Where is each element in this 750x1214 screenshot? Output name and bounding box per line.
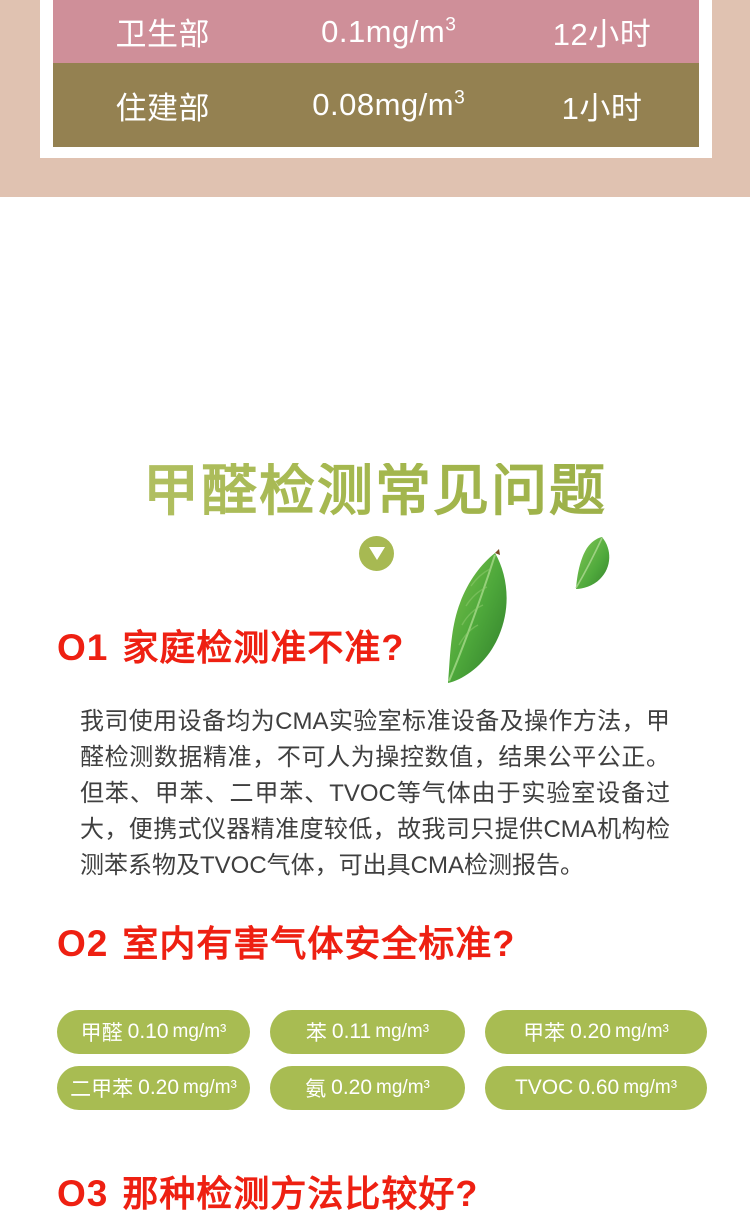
cell-duration: 1小时 — [505, 63, 699, 147]
gas-unit: mg/m³ — [183, 1077, 237, 1099]
standards-table-frame: 卫生部 0.1mg/m3 12小时 住建部 0.08mg/m3 1小时 — [40, 0, 712, 158]
cell-department: 住建部 — [53, 63, 273, 147]
faq-section: 甲醛检测常见问题 O1家庭检测准不准? 我司使用设备均为CMA实验室标准设备及操… — [0, 197, 750, 1034]
leaf-icon-small — [572, 535, 614, 590]
gas-value: 0.20 — [331, 1076, 372, 1100]
page-title: 甲醛检测常见问题 — [0, 463, 750, 519]
gas-name: 苯 — [306, 1017, 327, 1047]
gas-unit: mg/m³ — [615, 1021, 669, 1043]
gas-value: 0.20 — [570, 1020, 611, 1044]
gas-unit: mg/m³ — [376, 1077, 430, 1099]
gas-name: 甲苯 — [523, 1017, 565, 1047]
cell-duration: 12小时 — [505, 0, 699, 63]
question-answer-1: 我司使用设备均为CMA实验室标准设备及操作方法，甲醛检测数据精准，不可人为操控数… — [80, 704, 670, 884]
gas-standards-list: 甲醛 0.10 mg/m³ 苯 0.11 mg/m³ 甲苯 0.20 mg/m³… — [57, 1010, 707, 1122]
gas-standard-pill[interactable]: 甲醛 0.10 mg/m³ — [57, 1010, 250, 1054]
question-text-1: 家庭检测准不准? — [122, 627, 404, 668]
gas-value: 0.10 — [128, 1020, 169, 1044]
question-heading-3: O3那种检测方法比较好? — [57, 1175, 478, 1212]
cell-value-text: 0.08mg/m — [312, 87, 454, 122]
cell-value-superscript: 3 — [445, 14, 456, 35]
gas-value: 0.11 — [332, 1020, 371, 1044]
table-row: 卫生部 0.1mg/m3 12小时 — [53, 0, 699, 63]
gas-value: 0.60 — [578, 1076, 619, 1100]
gas-unit: mg/m³ — [173, 1021, 227, 1043]
question-number-3: O3 — [57, 1173, 108, 1214]
gas-standard-pill[interactable]: 苯 0.11 mg/m³ — [270, 1010, 465, 1054]
gas-standard-pill[interactable]: TVOC 0.60 mg/m³ — [485, 1066, 707, 1110]
leaf-icon-large — [440, 549, 520, 684]
gas-standards-row: 二甲苯 0.20 mg/m³ 氨 0.20 mg/m³ TVOC 0.60 mg… — [57, 1066, 707, 1110]
cell-value: 0.1mg/m3 — [273, 0, 505, 63]
gas-name: 二甲苯 — [70, 1073, 133, 1103]
cell-value-superscript: 3 — [454, 88, 465, 109]
gas-name: TVOC — [515, 1076, 573, 1100]
gas-standard-pill[interactable]: 二甲苯 0.20 mg/m³ — [57, 1066, 250, 1110]
gas-name: 氨 — [305, 1073, 326, 1103]
gas-value: 0.20 — [138, 1076, 179, 1100]
gas-standard-pill[interactable]: 甲苯 0.20 mg/m³ — [485, 1010, 707, 1054]
chevron-down-triangle-icon — [359, 536, 394, 571]
standards-table: 卫生部 0.1mg/m3 12小时 住建部 0.08mg/m3 1小时 — [53, 0, 699, 147]
question-heading-2: O2室内有害气体安全标准? — [57, 925, 515, 962]
standards-table-section: 卫生部 0.1mg/m3 12小时 住建部 0.08mg/m3 1小时 — [0, 0, 750, 197]
gas-standards-row: 甲醛 0.10 mg/m³ 苯 0.11 mg/m³ 甲苯 0.20 mg/m³ — [57, 1010, 707, 1054]
question-text-2: 室内有害气体安全标准? — [122, 923, 515, 964]
gas-standard-pill[interactable]: 氨 0.20 mg/m³ — [270, 1066, 465, 1110]
gas-name: 甲醛 — [81, 1017, 123, 1047]
gas-unit: mg/m³ — [375, 1021, 429, 1043]
question-heading-1: O1家庭检测准不准? — [57, 629, 404, 666]
cell-value: 0.08mg/m3 — [273, 63, 505, 147]
gas-unit: mg/m³ — [623, 1077, 677, 1099]
cell-value-text: 0.1mg/m — [321, 14, 445, 49]
table-row: 住建部 0.08mg/m3 1小时 — [53, 63, 699, 147]
question-text-3: 那种检测方法比较好? — [122, 1173, 478, 1214]
cell-department: 卫生部 — [53, 0, 273, 63]
question-number-1: O1 — [57, 627, 108, 668]
question-number-2: O2 — [57, 923, 108, 964]
